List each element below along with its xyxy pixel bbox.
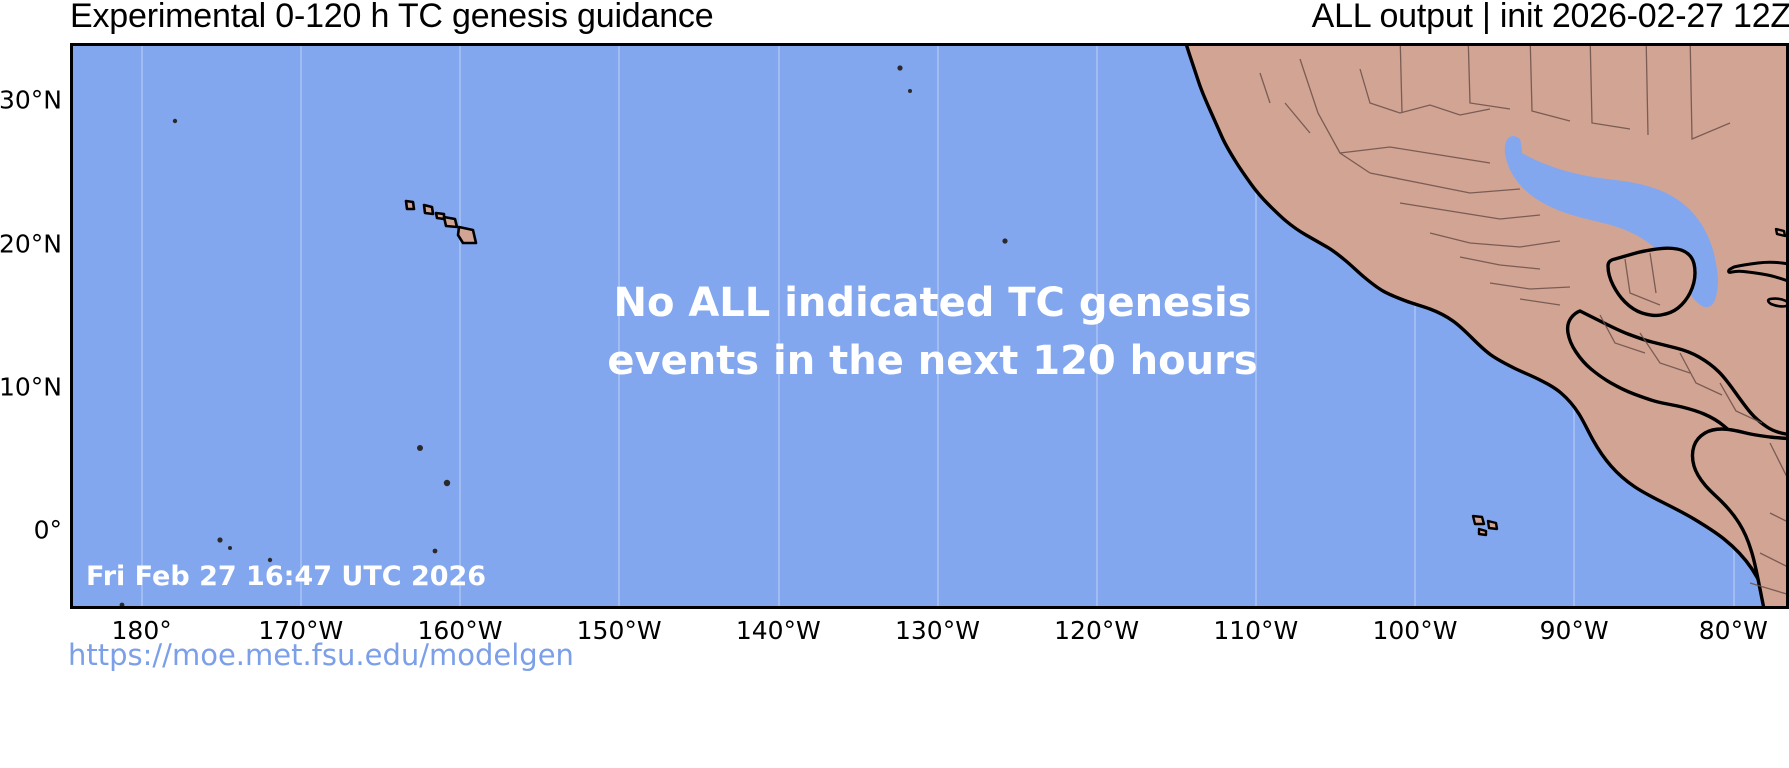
y-tick-label: 10°N	[0, 372, 62, 401]
basemap-svg	[70, 43, 1789, 609]
island-oahu	[424, 205, 433, 214]
timestamp-label: Fri Feb 27 16:47 UTC 2026	[86, 561, 486, 592]
y-tick-label: 30°N	[0, 86, 62, 115]
island-maui	[444, 217, 457, 227]
page-title: Experimental 0-120 h TC genesis guidance	[70, 0, 713, 36]
x-tick-label: 110°W	[1213, 616, 1298, 645]
x-tick-label: 150°W	[577, 616, 662, 645]
x-tick-label: 80°W	[1699, 616, 1768, 645]
y-tick-label: 20°N	[0, 229, 62, 258]
model-init-label: ALL output | init 2026-02-27 12Z	[1312, 0, 1789, 36]
x-tick-label: 120°W	[1054, 616, 1139, 645]
island-kauai	[406, 201, 414, 209]
island-hawaii-big	[458, 227, 476, 243]
x-tick-label: 100°W	[1372, 616, 1457, 645]
x-tick-label: 130°W	[895, 616, 980, 645]
y-tick-label: 0°	[34, 516, 62, 545]
header-bar: Experimental 0-120 h TC genesis guidance…	[0, 0, 1789, 40]
island-molokai	[436, 213, 444, 219]
x-tick-label: 90°W	[1540, 616, 1609, 645]
map-plot-area[interactable]: No ALL indicated TC genesis events in th…	[70, 43, 1789, 609]
source-url-link[interactable]: https://moe.met.fsu.edu/modelgen	[68, 638, 574, 672]
island-jamaica	[1768, 299, 1788, 307]
x-tick-label: 140°W	[736, 616, 821, 645]
